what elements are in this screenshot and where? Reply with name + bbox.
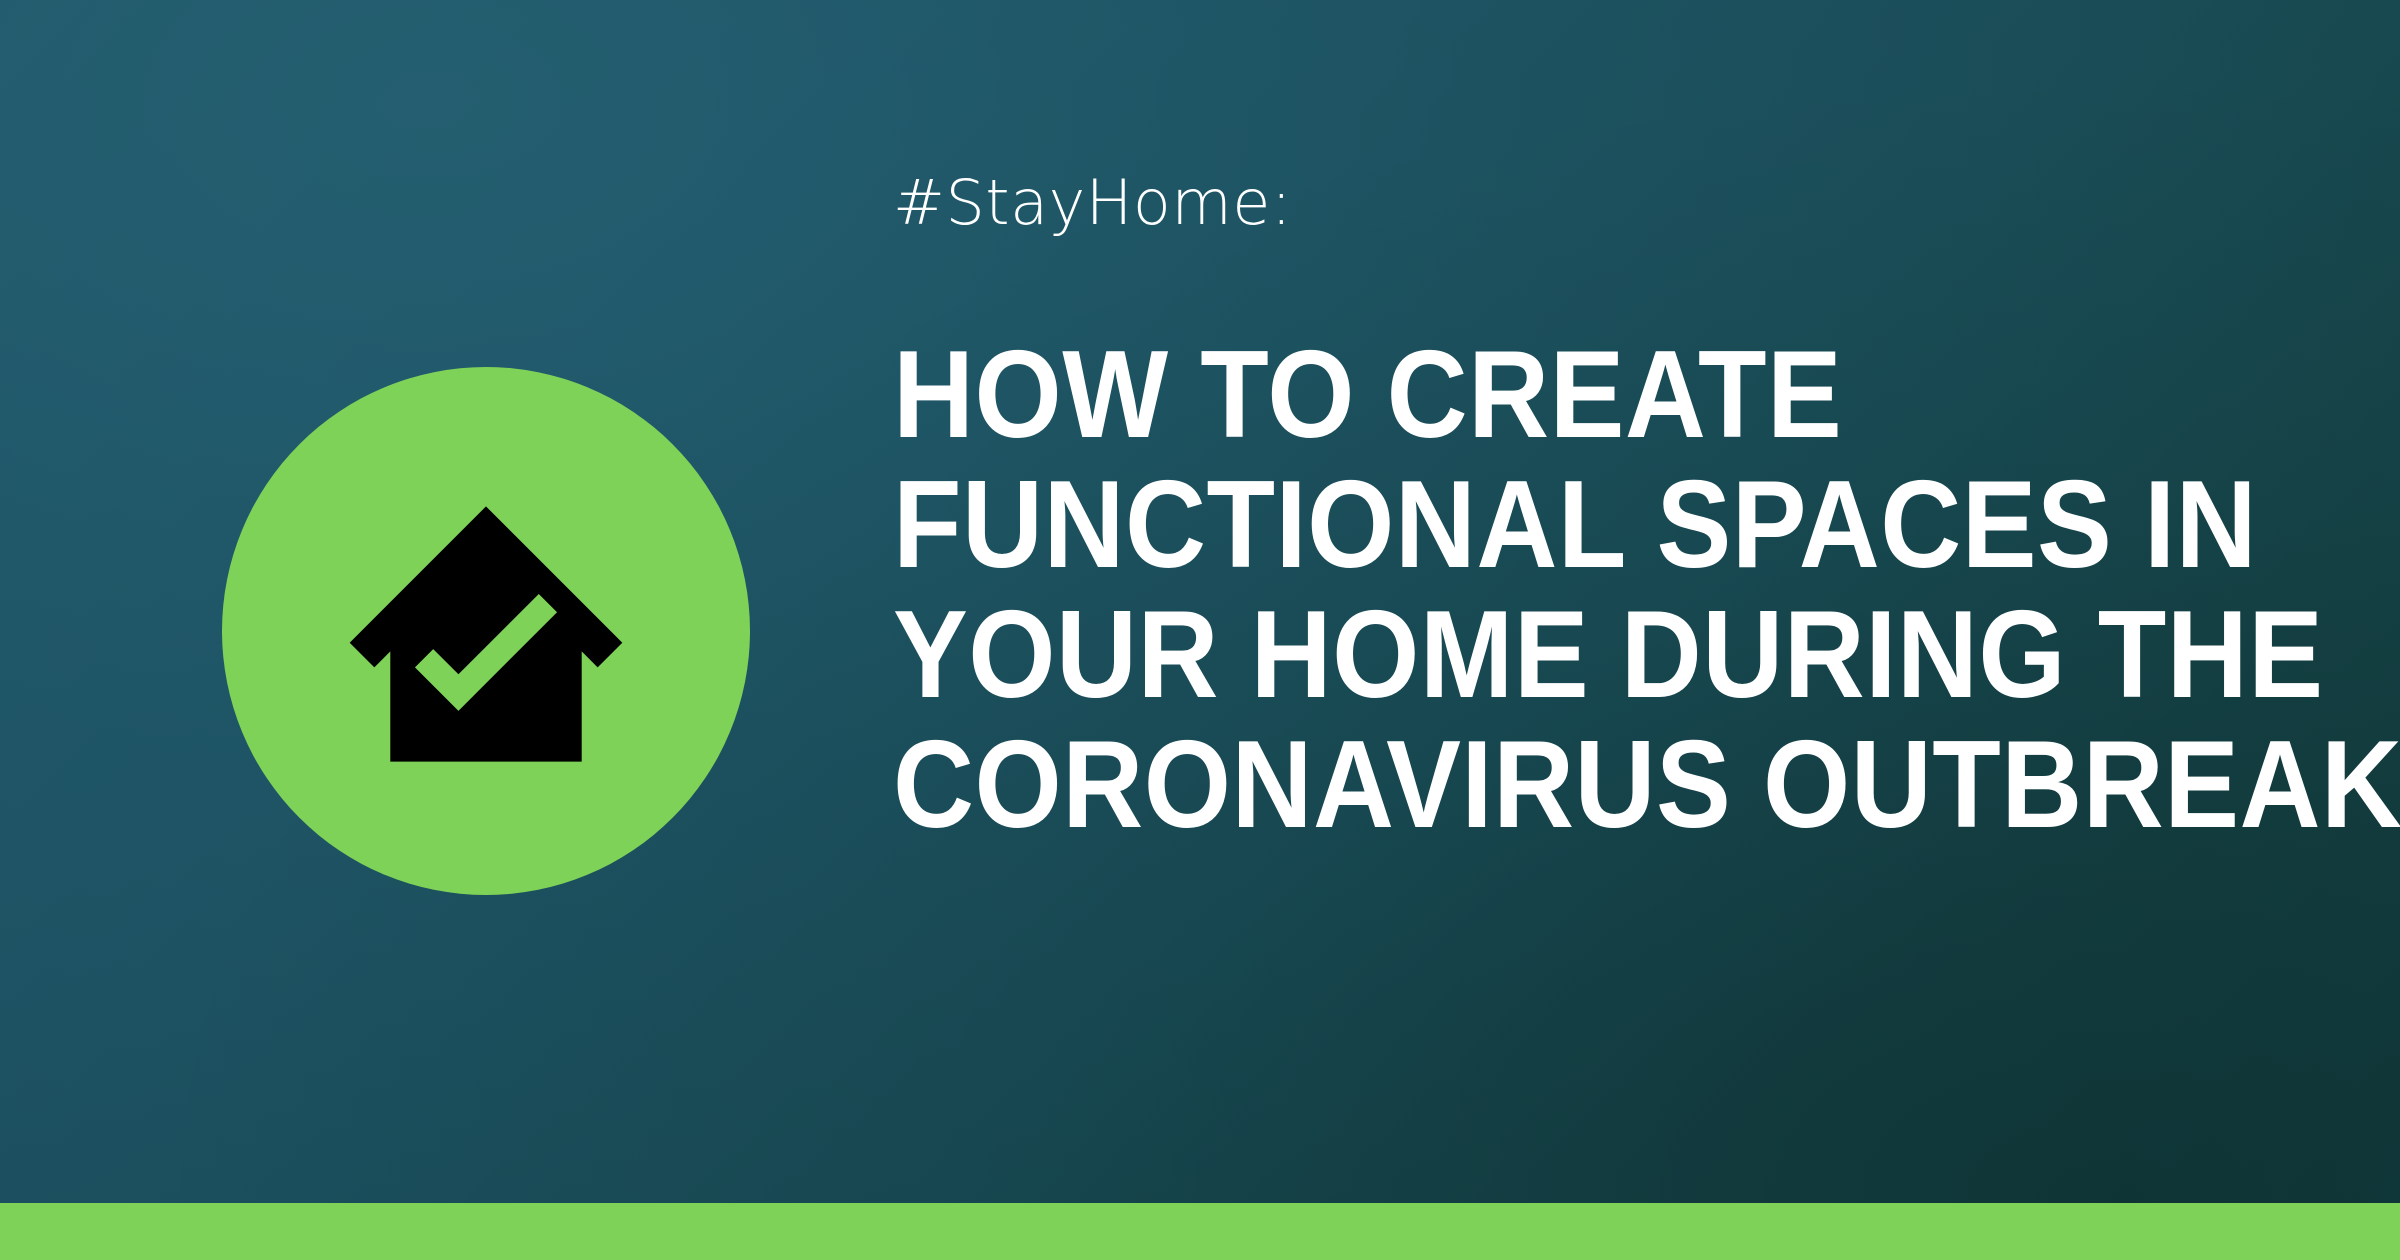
- headline-line-1: HOW TO CREATE: [893, 330, 2178, 460]
- stayhome-banner: #StayHome: HOW TO CREATE FUNCTIONAL SPAC…: [0, 0, 2400, 1260]
- page-title: HOW TO CREATE FUNCTIONAL SPACES IN YOUR …: [893, 330, 2313, 850]
- headline-line-4: CORONAVIRUS OUTBREAK: [893, 720, 2178, 850]
- eyebrow-hashtag: #StayHome:: [893, 172, 2313, 234]
- house-check-icon: [341, 489, 631, 779]
- headline-line-3: YOUR HOME DURING THE: [893, 590, 2178, 720]
- headline-line-2: FUNCTIONAL SPACES IN: [893, 460, 2178, 590]
- bottom-accent-bar: [0, 1203, 2400, 1260]
- banner-text-block: #StayHome: HOW TO CREATE FUNCTIONAL SPAC…: [893, 172, 2313, 850]
- house-check-badge: [222, 367, 750, 895]
